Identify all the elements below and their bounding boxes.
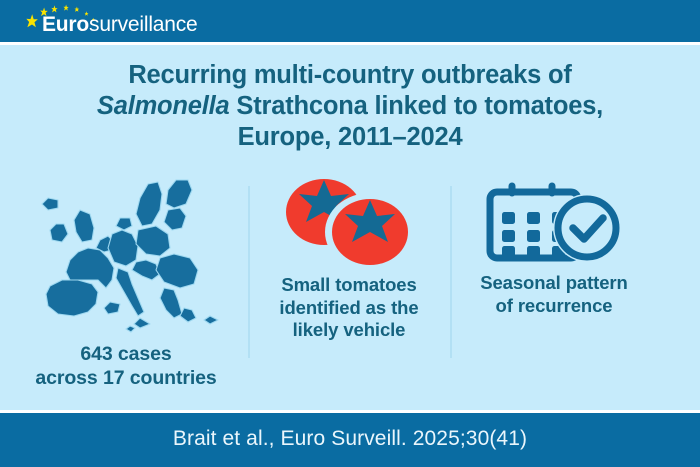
key-findings-panels: 643 cases across 17 countries Small toma… xyxy=(0,176,700,404)
tomatoes-icon xyxy=(254,178,444,266)
calendar-check-icon xyxy=(456,180,652,264)
europe-map-icon xyxy=(8,176,244,336)
calendar-caption-line-2: of recurrence xyxy=(496,295,613,316)
panel-calendar-caption: Seasonal pattern of recurrence xyxy=(456,272,652,317)
header-divider-rule xyxy=(0,42,700,45)
countries-count-label: across 17 countries xyxy=(35,367,216,389)
eurosurveillance-logo[interactable]: Eurosurveillance xyxy=(22,4,232,40)
panel-seasonal-pattern: Seasonal pattern of recurrence xyxy=(456,176,652,317)
page-title: Recurring multi-country outbreaks of Sal… xyxy=(30,60,670,153)
panel-cases-map: 643 cases across 17 countries xyxy=(8,176,244,390)
panel-divider-2 xyxy=(450,186,452,358)
tomato-caption-line-1: Small tomatoes xyxy=(281,274,416,295)
panel-cases-caption: 643 cases across 17 countries xyxy=(8,342,244,390)
infographic-root: Eurosurveillance Recurring multi-country… xyxy=(0,0,700,467)
title-line-3: Europe, 2011–2024 xyxy=(238,123,463,151)
panel-vehicle-tomatoes: Small tomatoes identified as the likely … xyxy=(254,176,444,342)
citation-text: Brait et al., Euro Surveill. 2025;30(41) xyxy=(0,425,700,453)
title-line-1: Recurring multi-country outbreaks of xyxy=(128,61,571,89)
calendar-caption-line-1: Seasonal pattern xyxy=(480,272,627,293)
tomato-caption-line-2: identified as the xyxy=(279,297,418,318)
title-pathogen-italic: Salmonella xyxy=(97,92,230,120)
logo-wordmark: Eurosurveillance xyxy=(42,13,198,37)
panel-divider-1 xyxy=(248,186,250,358)
tomato-caption-line-3: likely vehicle xyxy=(293,319,406,340)
panel-tomato-caption: Small tomatoes identified as the likely … xyxy=(254,274,444,342)
title-line-2-rest: Strathcona linked to tomatoes, xyxy=(230,92,604,120)
logo-word-surveillance: surveillance xyxy=(89,13,198,36)
logo-word-euro: Euro xyxy=(42,13,89,36)
cases-count-label: 643 cases xyxy=(80,343,171,365)
